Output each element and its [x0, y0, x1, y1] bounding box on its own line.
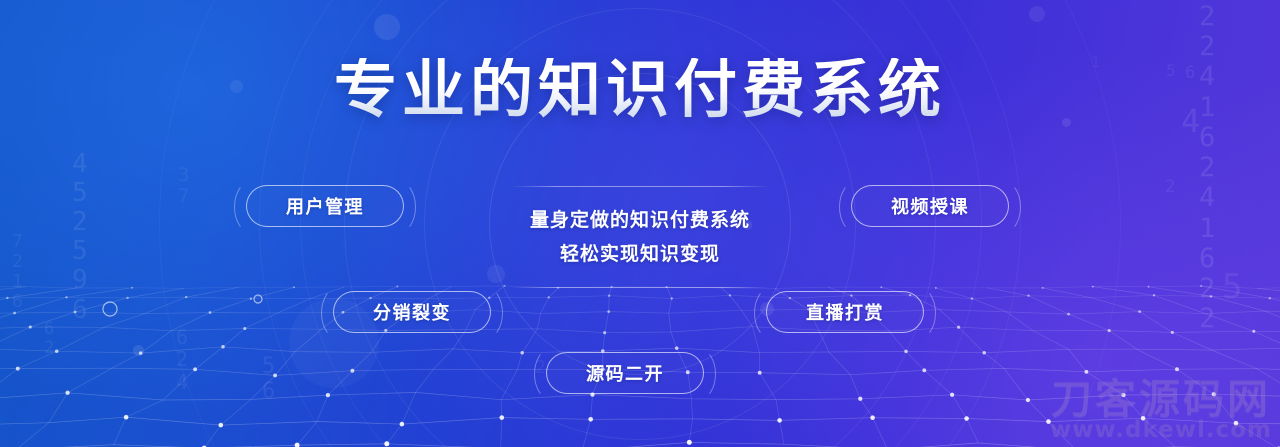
center-tagline-block: 量身定做的知识付费系统 轻松实现知识变现 — [511, 186, 769, 288]
tagline-lines: 量身定做的知识付费系统 轻松实现知识变现 — [511, 187, 769, 287]
watermark-site-name: 刀客源码网 — [1050, 378, 1272, 421]
site-watermark: 刀客源码网 www.dkewl.com — [1050, 378, 1272, 443]
feature-pill-source-code[interactable]: 源码二开 — [546, 352, 704, 394]
tagline-line-1: 量身定做的知识付费系统 — [511, 204, 769, 238]
feature-pill-live-reward[interactable]: 直播打赏 — [766, 291, 924, 333]
feature-pill-user-management[interactable]: 用户管理 — [246, 185, 404, 227]
banner-content: 专业的知识付费系统 量身定做的知识付费系统 轻松实现知识变现 用户管理 视频授课… — [0, 0, 1280, 447]
tagline-line-2: 轻松实现知识变现 — [511, 238, 769, 272]
promo-banner: 4 5 2 5 9 67 2 1 66 26 2 45 63 722 2 4 1… — [0, 0, 1280, 447]
feature-pill-video-teaching[interactable]: 视频授课 — [851, 185, 1009, 227]
watermark-site-url: www.dkewl.com — [1050, 418, 1272, 443]
page-title: 专业的知识付费系统 — [0, 58, 1280, 121]
feature-pill-distribution[interactable]: 分销裂变 — [333, 291, 491, 333]
divider-bottom — [511, 287, 769, 288]
